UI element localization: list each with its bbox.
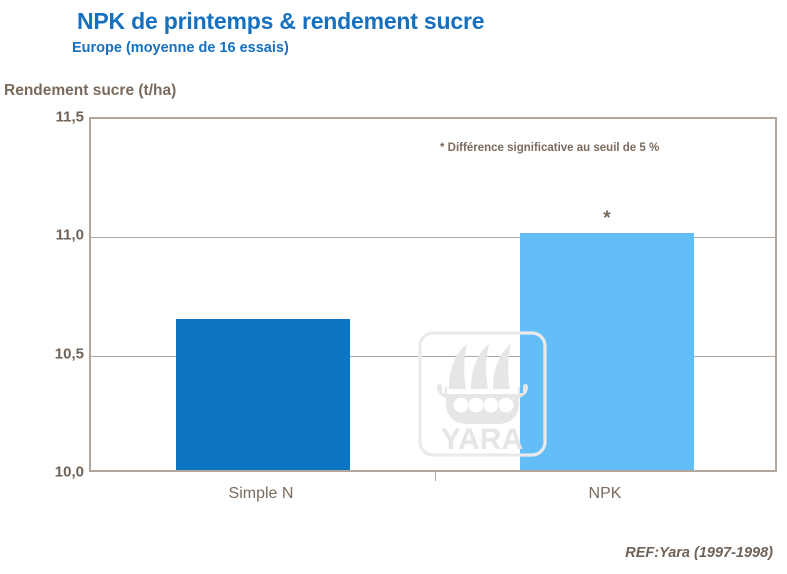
x-axis-label-simple-n: Simple N [229,485,294,503]
bar-simple-n[interactable] [176,319,350,470]
bar-npk[interactable] [520,233,694,470]
yara-wordmark: YARA [441,423,523,456]
y-tick-label: 11,5 [24,109,84,126]
y-tick-label: 10,5 [24,345,84,362]
x-axis-tick [435,472,436,481]
significance-marker: * [603,209,610,228]
significance-note: * Différence significative au seuil de 5… [440,142,659,154]
y-tick-label: 11,0 [24,227,84,244]
y-axis-title: Rendement sucre (t/ha) [4,82,176,100]
y-tick-label: 10,0 [24,464,84,481]
chart-subtitle: Europe (moyenne de 16 essais) [72,40,289,56]
x-axis-label-npk: NPK [589,485,622,503]
chart-plot-area: * * Différence significative au seuil de… [89,117,777,472]
reference-note: REF:Yara (1997-1998) [625,545,773,561]
page-title: NPK de printemps & rendement sucre [77,8,484,35]
